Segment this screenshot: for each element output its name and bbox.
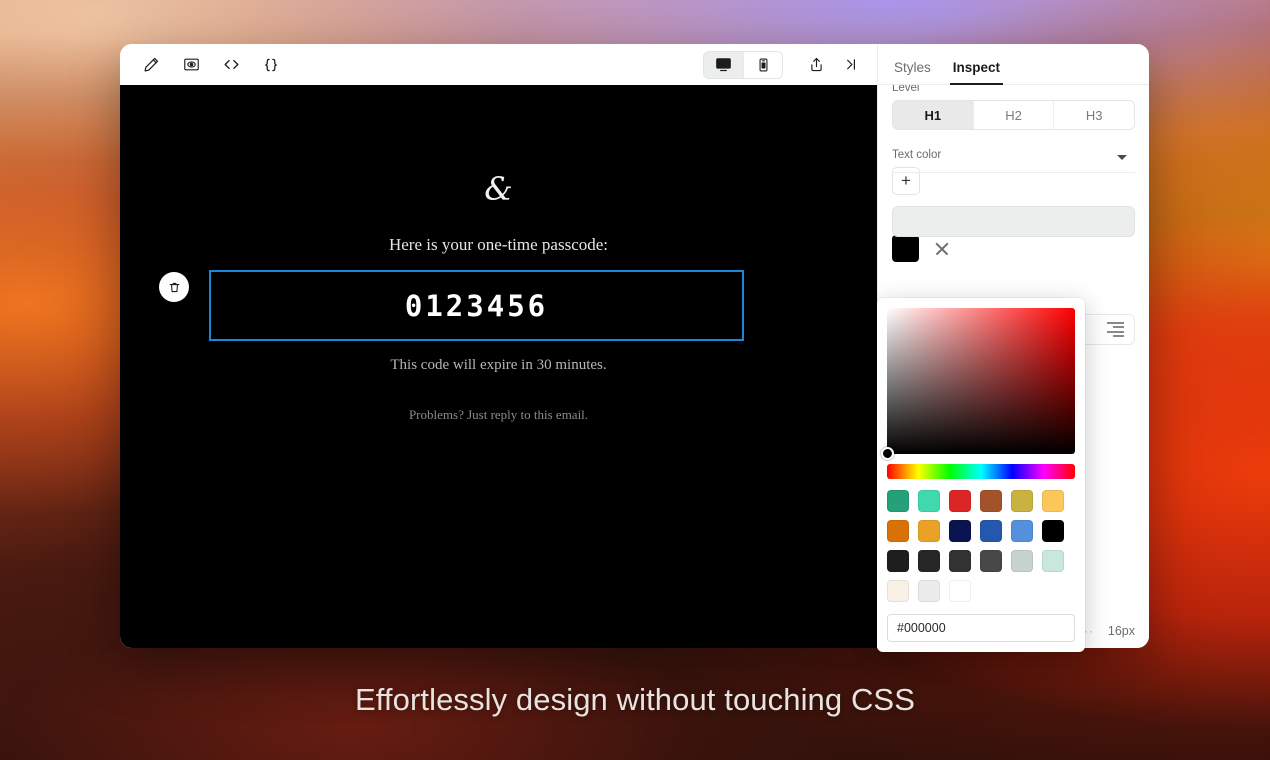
color-swatch[interactable] xyxy=(949,580,971,602)
passcode-block-selected[interactable]: 0123456 xyxy=(209,270,744,341)
hue-slider[interactable] xyxy=(887,464,1075,479)
inspector-tabs: Styles Inspect xyxy=(878,44,1149,85)
font-family-select[interactable] xyxy=(892,143,1135,173)
color-swatch[interactable] xyxy=(1011,550,1033,572)
color-picker-popup[interactable]: #000000 xyxy=(877,298,1085,652)
heading-level-h1[interactable]: H1 xyxy=(893,101,973,129)
color-swatch[interactable] xyxy=(980,550,1002,572)
size-stepper-dots[interactable]: ·· xyxy=(1084,624,1094,638)
color-swatch[interactable] xyxy=(980,520,1002,542)
passcode-value: 0123456 xyxy=(405,289,548,323)
font-size-value: 16px xyxy=(1108,624,1135,638)
color-swatch[interactable] xyxy=(949,520,971,542)
share-upload-icon[interactable] xyxy=(801,50,831,80)
text-input-field[interactable] xyxy=(892,206,1135,237)
level-label: Level xyxy=(892,85,1135,94)
email-logo-ampersand: & xyxy=(120,173,877,205)
viewport-toggle-group xyxy=(703,51,783,79)
color-swatch[interactable] xyxy=(1011,490,1033,512)
code-brackets-icon[interactable] xyxy=(216,50,246,80)
color-swatch[interactable] xyxy=(887,580,909,602)
email-canvas[interactable]: & Here is your one-time passcode: 012345… xyxy=(120,85,877,648)
color-swatch[interactable] xyxy=(887,550,909,572)
editor-toolbar xyxy=(120,44,877,85)
color-swatch[interactable] xyxy=(918,490,940,512)
color-swatch[interactable] xyxy=(980,490,1002,512)
email-expiry-text: This code will expire in 30 minutes. xyxy=(120,357,877,374)
background-color-swatch[interactable] xyxy=(892,235,919,262)
delete-block-button[interactable] xyxy=(159,272,189,302)
editor-toolbar-right-tools xyxy=(703,50,865,80)
email-lead-text: Here is your one-time passcode: xyxy=(120,235,877,255)
heading-level-h3[interactable]: H3 xyxy=(1053,101,1134,129)
background-color-row xyxy=(892,235,1135,262)
color-swatch[interactable] xyxy=(1042,520,1064,542)
editor-column: & Here is your one-time passcode: 012345… xyxy=(120,44,877,648)
hex-color-input[interactable]: #000000 xyxy=(887,614,1075,642)
email-help-text: Problems? Just reply to this email. xyxy=(120,407,877,423)
saturation-value-area[interactable] xyxy=(887,308,1075,454)
viewport-desktop-button[interactable] xyxy=(704,52,743,78)
color-swatch[interactable] xyxy=(949,490,971,512)
collapse-panel-icon[interactable] xyxy=(835,50,865,80)
close-icon[interactable] xyxy=(933,240,951,258)
color-swatch[interactable] xyxy=(918,520,940,542)
text-align-right-icon xyxy=(1107,322,1124,338)
color-swatch[interactable] xyxy=(1042,490,1064,512)
color-swatch[interactable] xyxy=(1042,550,1064,572)
viewport-mobile-button[interactable] xyxy=(743,52,782,78)
color-swatch[interactable] xyxy=(887,490,909,512)
curly-braces-icon[interactable] xyxy=(256,50,286,80)
pencil-icon[interactable] xyxy=(136,50,166,80)
color-swatch[interactable] xyxy=(887,520,909,542)
chevron-down-icon xyxy=(1117,155,1127,160)
heading-level-group: H1 H2 H3 xyxy=(892,100,1135,130)
color-swatch[interactable] xyxy=(949,550,971,572)
promo-caption: Effortlessly design without touching CSS xyxy=(0,682,1270,718)
tab-inspect[interactable]: Inspect xyxy=(953,60,1000,84)
heading-level-h2[interactable]: H2 xyxy=(973,101,1054,129)
saturation-value-handle[interactable] xyxy=(881,447,894,460)
tab-styles[interactable]: Styles xyxy=(894,60,931,84)
color-swatch[interactable] xyxy=(1011,520,1033,542)
font-size-row: ·· 16px xyxy=(1084,624,1135,638)
color-swatch-grid xyxy=(887,490,1075,602)
preview-eye-icon[interactable] xyxy=(176,50,206,80)
color-swatch[interactable] xyxy=(918,550,940,572)
color-swatch[interactable] xyxy=(918,580,940,602)
editor-toolbar-left-tools xyxy=(136,50,286,80)
